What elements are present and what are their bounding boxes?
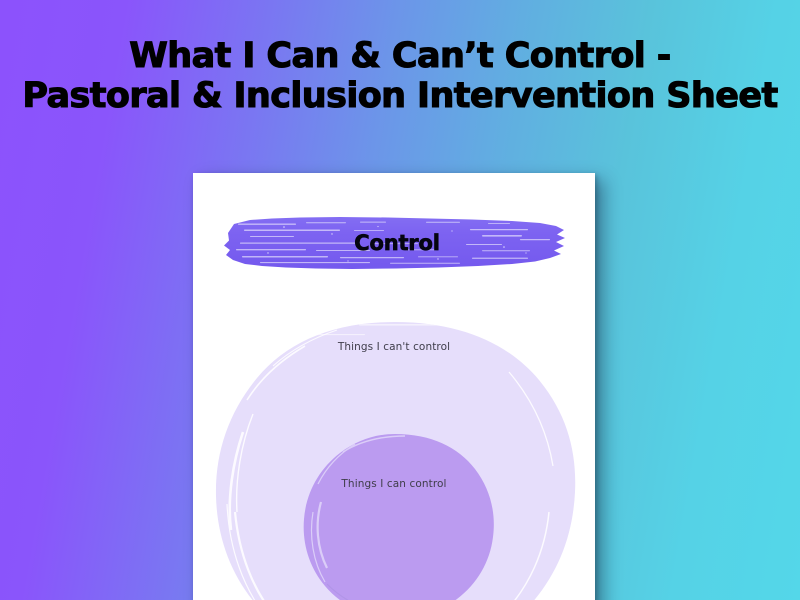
page-title: What I Can & Can’t Control - Pastoral & … (0, 36, 800, 116)
screenshot-canvas: What I Can & Can’t Control - Pastoral & … (0, 0, 800, 600)
control-circles-diagram (209, 316, 581, 600)
outer-circle-label: Things I can't control (193, 341, 595, 353)
circles-graphic (209, 316, 581, 600)
worksheet-sheet: Control (193, 173, 595, 600)
control-banner: Control (220, 209, 570, 277)
inner-circle-label: Things I can control (193, 478, 595, 490)
control-banner-label: Control (220, 209, 570, 277)
page-title-line-1: What I Can & Can’t Control - (0, 36, 800, 76)
page-title-line-2: Pastoral & Inclusion Intervention Sheet (0, 76, 800, 116)
